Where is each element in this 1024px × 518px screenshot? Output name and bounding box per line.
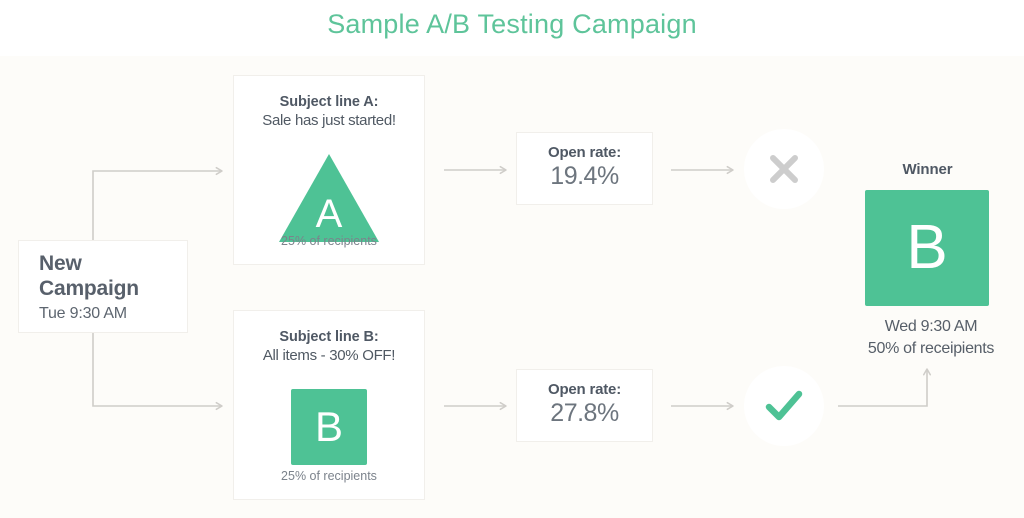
campaign-title-line1: New: [39, 251, 187, 276]
variant-a-card[interactable]: Subject line A: Sale has just started! A…: [233, 75, 425, 265]
winner-letter: B: [906, 217, 947, 279]
winner-label: Winner: [855, 161, 1000, 178]
variant-a-heading: Subject line A:: [234, 94, 424, 110]
check-icon: [761, 383, 807, 429]
wire-campaign-to-a: [93, 171, 222, 240]
variant-b-card[interactable]: Subject line B: All items - 30% OFF! B 2…: [233, 310, 425, 500]
variant-b-glyph: B: [234, 389, 424, 465]
winner-audience: 50% of receipients: [838, 338, 1024, 360]
variant-b-footnote: 25% of recipients: [234, 469, 424, 483]
variant-b-heading: Subject line B:: [234, 329, 424, 345]
open-rate-a-value: 19.4%: [517, 162, 652, 191]
open-rate-a-card[interactable]: Open rate: 19.4%: [516, 132, 653, 205]
variant-a-result-badge: [744, 129, 824, 209]
campaign-title: New Campaign: [39, 251, 187, 301]
campaign-title-line2: Campaign: [39, 276, 187, 301]
variant-a-glyph: A: [234, 154, 424, 242]
variant-b-result-badge: [744, 366, 824, 446]
close-icon: [764, 149, 804, 189]
winner-square: B: [865, 190, 989, 306]
winner-time: Wed 9:30 AM: [838, 316, 1024, 338]
triangle-icon: A: [279, 154, 379, 242]
variant-a-footnote: 25% of recipients: [234, 234, 424, 248]
open-rate-b-value: 27.8%: [517, 399, 652, 428]
wire-result-to-winner: [838, 369, 927, 406]
wire-campaign-to-b: [93, 333, 222, 406]
square-icon: B: [291, 389, 367, 465]
campaign-time: Tue 9:30 AM: [39, 305, 187, 323]
new-campaign-card[interactable]: New Campaign Tue 9:30 AM: [18, 240, 188, 333]
open-rate-b-label: Open rate:: [517, 381, 652, 398]
winner-meta: Wed 9:30 AM 50% of receipients: [838, 316, 1024, 360]
open-rate-a-label: Open rate:: [517, 144, 652, 161]
variant-b-letter: B: [315, 406, 343, 448]
ab-testing-diagram: Sample A/B Testing Campaign New: [0, 0, 1024, 518]
open-rate-b-card[interactable]: Open rate: 27.8%: [516, 369, 653, 442]
variant-a-subject: Sale has just started!: [234, 112, 424, 129]
variant-b-subject: All items - 30% OFF!: [234, 347, 424, 364]
variant-a-letter: A: [316, 194, 343, 234]
